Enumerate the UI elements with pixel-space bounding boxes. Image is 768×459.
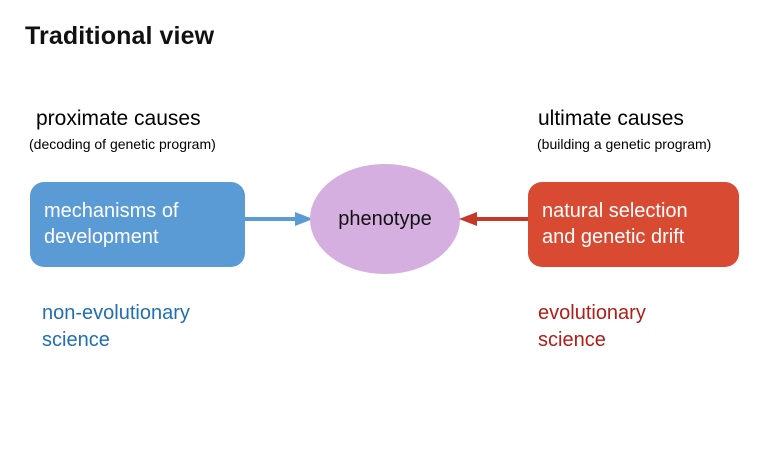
proximate-causes-heading: proximate causes bbox=[36, 107, 216, 130]
natural-selection-label: natural selection and genetic drift bbox=[542, 199, 688, 250]
proximate-causes-group: proximate causes (decoding of genetic pr… bbox=[36, 107, 216, 152]
arrow-shaft bbox=[245, 217, 297, 221]
natural-selection-box: natural selection and genetic drift bbox=[528, 182, 739, 267]
mechanisms-of-development-label: mechanisms of development bbox=[44, 199, 179, 250]
arrow-head-left-icon bbox=[459, 212, 477, 226]
phenotype-node: phenotype bbox=[310, 164, 460, 274]
arrow-development-to-phenotype bbox=[245, 207, 313, 231]
slide-canvas: Traditional view proximate causes (decod… bbox=[0, 0, 768, 459]
arrow-shaft bbox=[477, 217, 529, 221]
non-evolutionary-science-label: non-evolutionary science bbox=[42, 300, 190, 353]
page-title: Traditional view bbox=[25, 22, 214, 51]
ultimate-causes-subheading: (building a genetic program) bbox=[537, 137, 711, 152]
ultimate-causes-group: ultimate causes (building a genetic prog… bbox=[538, 107, 711, 152]
ultimate-causes-heading: ultimate causes bbox=[538, 107, 711, 130]
mechanisms-of-development-box: mechanisms of development bbox=[30, 182, 245, 267]
arrow-selection-to-phenotype bbox=[457, 207, 529, 231]
proximate-causes-subheading: (decoding of genetic program) bbox=[29, 137, 216, 152]
phenotype-label: phenotype bbox=[338, 208, 431, 231]
evolutionary-science-label: evolutionary science bbox=[538, 300, 646, 353]
